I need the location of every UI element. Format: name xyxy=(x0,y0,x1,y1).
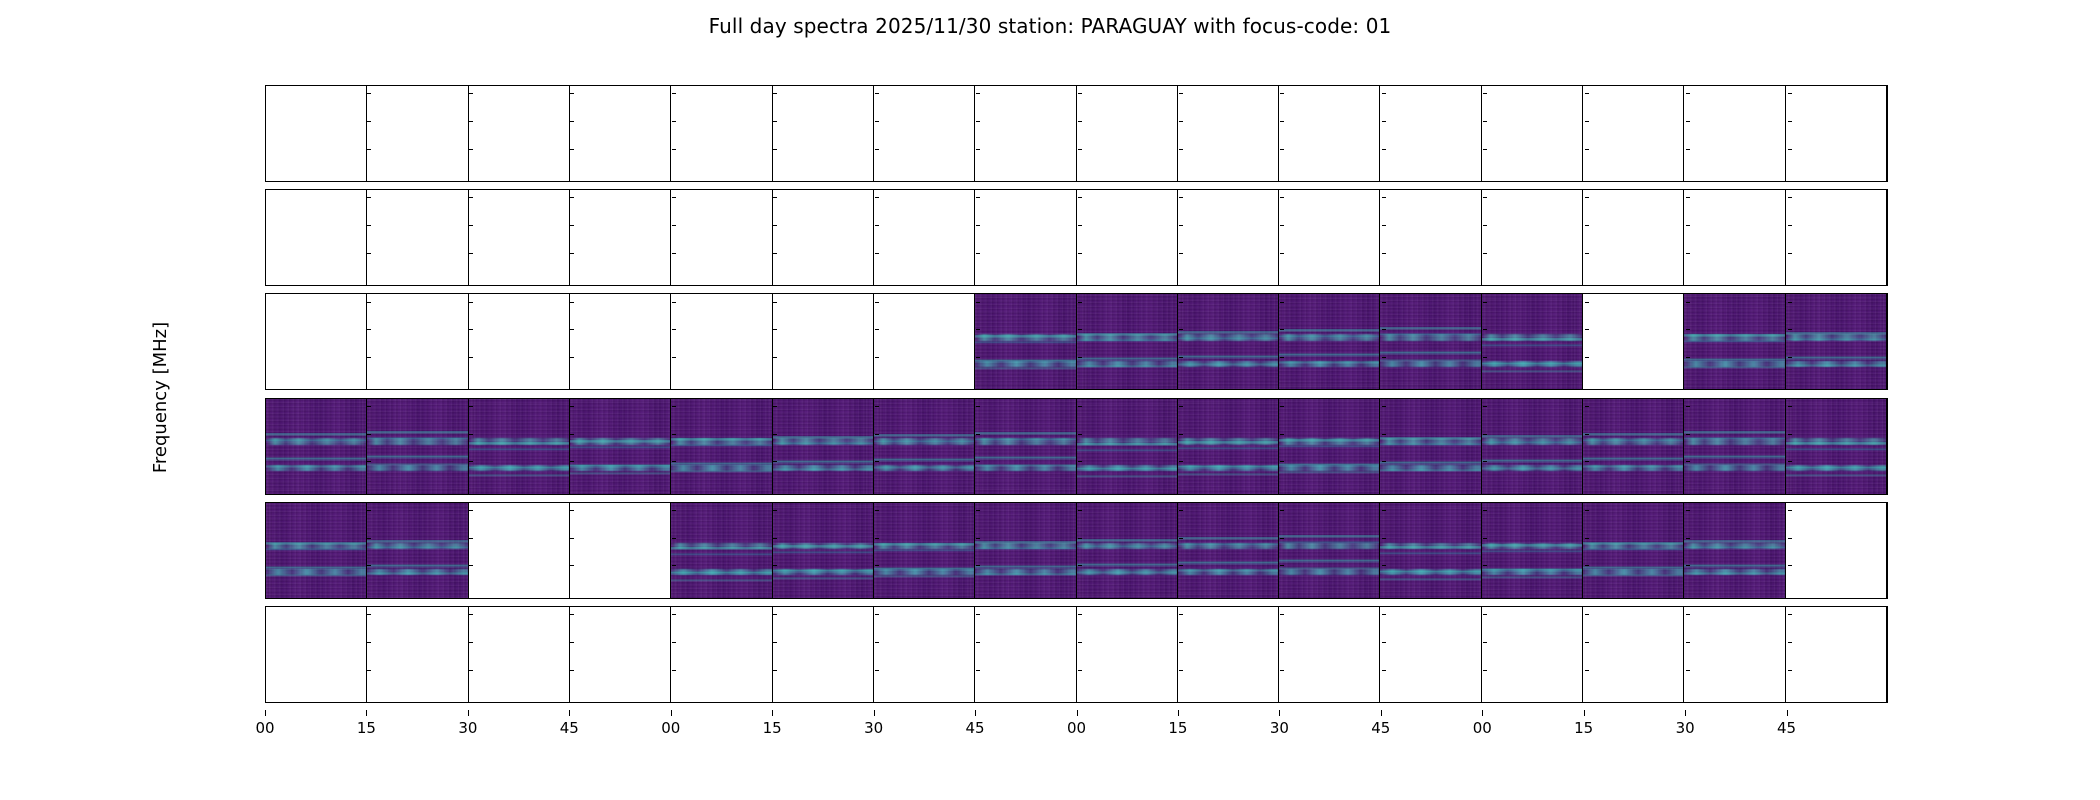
y-tick-stub xyxy=(1280,406,1284,407)
y-tick-stub xyxy=(570,642,574,643)
spectrogram-cell-empty xyxy=(874,294,975,389)
y-tick-stub xyxy=(1483,461,1487,462)
spectrogram-cell-empty xyxy=(266,190,367,285)
y-tick-stub xyxy=(570,253,574,254)
spectrogram-cell-empty xyxy=(1583,294,1684,389)
y-tick-stub xyxy=(570,197,574,198)
spectrogram-cell-empty xyxy=(469,294,570,389)
spectrogram-cell xyxy=(1482,503,1583,598)
x-tick-mark xyxy=(1584,710,1585,716)
y-tick-stub xyxy=(1078,538,1082,539)
y-tick-stub xyxy=(1382,434,1386,435)
y-tick-stub xyxy=(773,406,777,407)
y-tick-stub xyxy=(1382,329,1386,330)
y-tick-stub xyxy=(1483,565,1487,566)
y-tick-stub xyxy=(1179,302,1183,303)
y-tick-stub xyxy=(570,670,574,671)
x-tick-label: 15 xyxy=(1574,719,1593,737)
y-tick-stub xyxy=(1280,461,1284,462)
y-tick-stub xyxy=(367,670,371,671)
x-tick-mark xyxy=(468,710,469,716)
y-tick-mark xyxy=(265,197,266,198)
y-tick-stub xyxy=(1179,614,1183,615)
y-tick-stub xyxy=(1686,670,1690,671)
y-tick-stub xyxy=(1483,510,1487,511)
spectrogram-cell xyxy=(367,399,468,494)
y-tick-stub xyxy=(570,565,574,566)
x-tick-mark xyxy=(1685,710,1686,716)
y-tick-stub xyxy=(672,642,676,643)
y-tick-stub xyxy=(367,225,371,226)
x-tick-mark xyxy=(1381,710,1382,716)
spectrogram-cell-empty xyxy=(1684,86,1785,181)
y-tick-stub xyxy=(875,93,879,94)
y-tick-stub xyxy=(1686,565,1690,566)
y-tick-stub xyxy=(875,357,879,358)
y-tick-stub xyxy=(672,538,676,539)
y-tick-stub xyxy=(1078,642,1082,643)
y-tick-stub xyxy=(367,406,371,407)
y-tick-mark xyxy=(265,253,266,254)
y-tick-stub xyxy=(570,302,574,303)
y-tick-stub xyxy=(773,434,777,435)
y-tick-stub xyxy=(1382,614,1386,615)
y-tick-mark xyxy=(265,565,266,566)
y-tick-stub xyxy=(875,197,879,198)
y-tick-mark xyxy=(265,642,266,643)
spectrogram-cell xyxy=(1380,503,1481,598)
y-tick-stub xyxy=(1280,197,1284,198)
y-tick-stub xyxy=(1078,121,1082,122)
x-tick-label: 15 xyxy=(763,719,782,737)
y-tick-stub xyxy=(1078,461,1082,462)
spectrogram-cell-empty xyxy=(570,607,671,702)
spectrogram-row-12-15ut: 75050025012-15UT xyxy=(265,398,1888,495)
y-tick-stub xyxy=(367,461,371,462)
spectrogram-grid: 75050025000-03UT75050025004-07UT75050025… xyxy=(265,85,1888,710)
spectrogram-row-08-11ut: 75050025008-11UT xyxy=(265,293,1888,390)
y-tick-stub xyxy=(367,149,371,150)
y-tick-stub xyxy=(469,329,473,330)
y-tick-stub xyxy=(1280,93,1284,94)
y-tick-stub xyxy=(773,329,777,330)
y-tick-stub xyxy=(1585,538,1589,539)
spectrogram-cell-empty xyxy=(874,190,975,285)
spectrogram-cell-empty xyxy=(1482,86,1583,181)
y-tick-stub xyxy=(1078,253,1082,254)
y-tick-stub xyxy=(1483,93,1487,94)
y-tick-stub xyxy=(367,302,371,303)
x-tick-mark xyxy=(1077,710,1078,716)
spectrogram-cell xyxy=(1482,399,1583,494)
y-tick-mark xyxy=(265,225,266,226)
y-tick-stub xyxy=(1788,565,1792,566)
x-tick-label: 30 xyxy=(1676,719,1695,737)
y-tick-stub xyxy=(773,642,777,643)
y-tick-stub xyxy=(469,302,473,303)
y-tick-stub xyxy=(1788,121,1792,122)
y-tick-stub xyxy=(773,93,777,94)
y-tick-stub xyxy=(1179,329,1183,330)
y-tick-stub xyxy=(1483,670,1487,671)
x-tick-label: 00 xyxy=(661,719,680,737)
x-tick-label: 30 xyxy=(458,719,477,737)
y-tick-stub xyxy=(570,357,574,358)
y-tick-stub xyxy=(1078,510,1082,511)
x-tick-mark xyxy=(1482,710,1483,716)
y-tick-stub xyxy=(672,406,676,407)
y-tick-mark xyxy=(265,461,266,462)
y-tick-stub xyxy=(1280,538,1284,539)
y-tick-stub xyxy=(1280,434,1284,435)
y-tick-stub xyxy=(570,406,574,407)
y-tick-mark xyxy=(265,406,266,407)
y-tick-stub xyxy=(1179,434,1183,435)
spectrogram-cell xyxy=(1684,294,1785,389)
y-tick-stub xyxy=(570,510,574,511)
y-tick-stub xyxy=(976,434,980,435)
y-tick-stub xyxy=(367,434,371,435)
spectrogram-cell xyxy=(1178,399,1279,494)
y-tick-stub xyxy=(570,149,574,150)
spectrogram-cell xyxy=(773,503,874,598)
y-tick-stub xyxy=(570,225,574,226)
y-tick-stub xyxy=(1483,197,1487,198)
spectrogram-cell xyxy=(874,503,975,598)
y-tick-stub xyxy=(1179,670,1183,671)
y-tick-stub xyxy=(1788,510,1792,511)
spectrogram-cell-empty xyxy=(1178,607,1279,702)
spectrogram-cell xyxy=(1380,399,1481,494)
y-tick-stub xyxy=(367,565,371,566)
spectrogram-cell-empty xyxy=(1380,190,1481,285)
y-tick-stub xyxy=(875,642,879,643)
spectrogram-cell-empty xyxy=(1583,190,1684,285)
y-tick-stub xyxy=(773,510,777,511)
x-tick-mark xyxy=(569,710,570,716)
y-tick-stub xyxy=(1179,538,1183,539)
y-tick-stub xyxy=(1078,329,1082,330)
x-tick-mark xyxy=(772,710,773,716)
y-tick-stub xyxy=(367,329,371,330)
y-tick-stub xyxy=(1280,510,1284,511)
spectrogram-cell-empty xyxy=(1077,86,1178,181)
y-tick-mark xyxy=(265,149,266,150)
x-tick-label: 45 xyxy=(1371,719,1390,737)
y-tick-stub xyxy=(672,225,676,226)
y-tick-stub xyxy=(1686,538,1690,539)
y-tick-stub xyxy=(1382,121,1386,122)
y-tick-stub xyxy=(1788,434,1792,435)
y-tick-mark xyxy=(265,93,266,94)
spectrogram-cell-empty xyxy=(773,607,874,702)
y-tick-stub xyxy=(1483,225,1487,226)
spectrogram-cell-empty xyxy=(1786,190,1887,285)
y-tick-stub xyxy=(1078,670,1082,671)
spectrogram-cell-empty xyxy=(367,190,468,285)
y-tick-stub xyxy=(1585,121,1589,122)
spectrogram-cell-empty xyxy=(1279,190,1380,285)
y-tick-mark xyxy=(265,614,266,615)
y-tick-stub xyxy=(469,614,473,615)
x-tick-label: 00 xyxy=(1473,719,1492,737)
x-tick-mark xyxy=(1178,710,1179,716)
y-tick-stub xyxy=(1788,642,1792,643)
y-tick-stub xyxy=(367,642,371,643)
y-tick-stub xyxy=(1788,329,1792,330)
y-tick-stub xyxy=(672,329,676,330)
y-tick-stub xyxy=(773,565,777,566)
y-tick-stub xyxy=(1686,302,1690,303)
y-tick-stub xyxy=(1686,614,1690,615)
y-tick-stub xyxy=(976,121,980,122)
y-tick-stub xyxy=(875,670,879,671)
y-tick-stub xyxy=(1078,434,1082,435)
y-tick-stub xyxy=(469,197,473,198)
y-tick-stub xyxy=(1585,329,1589,330)
y-tick-stub xyxy=(1788,614,1792,615)
y-tick-stub xyxy=(875,434,879,435)
y-tick-stub xyxy=(367,538,371,539)
y-tick-stub xyxy=(1483,121,1487,122)
spectrogram-cell-empty xyxy=(773,190,874,285)
y-tick-stub xyxy=(1483,253,1487,254)
y-tick-stub xyxy=(672,565,676,566)
spectrogram-cell-empty xyxy=(1583,86,1684,181)
spectrogram-cell xyxy=(1583,503,1684,598)
y-tick-stub xyxy=(1382,461,1386,462)
y-tick-stub xyxy=(672,434,676,435)
y-tick-stub xyxy=(1280,302,1284,303)
y-tick-stub xyxy=(875,121,879,122)
spectrogram-cell-empty xyxy=(975,607,1076,702)
y-tick-stub xyxy=(976,93,980,94)
spectrogram-cell-empty xyxy=(1786,503,1887,598)
y-tick-stub xyxy=(875,329,879,330)
y-tick-stub xyxy=(1585,565,1589,566)
spectrogram-cell xyxy=(975,503,1076,598)
y-tick-stub xyxy=(1382,149,1386,150)
spectrogram-cell-empty xyxy=(266,294,367,389)
y-tick-stub xyxy=(875,614,879,615)
y-tick-stub xyxy=(1788,670,1792,671)
y-tick-stub xyxy=(1686,121,1690,122)
y-tick-stub xyxy=(1483,357,1487,358)
y-tick-stub xyxy=(875,461,879,462)
spectrogram-cell xyxy=(1178,503,1279,598)
spectrogram-cell xyxy=(1279,503,1380,598)
y-tick-stub xyxy=(367,357,371,358)
y-tick-stub xyxy=(1179,121,1183,122)
y-tick-stub xyxy=(469,225,473,226)
y-tick-stub xyxy=(1483,614,1487,615)
y-tick-stub xyxy=(1788,149,1792,150)
x-tick-label: 45 xyxy=(560,719,579,737)
spectrogram-cell xyxy=(773,399,874,494)
x-tick-mark xyxy=(975,710,976,716)
y-tick-stub xyxy=(1686,149,1690,150)
y-tick-stub xyxy=(1686,253,1690,254)
y-tick-stub xyxy=(875,406,879,407)
spectrogram-cell xyxy=(975,399,1076,494)
y-tick-stub xyxy=(570,93,574,94)
y-tick-stub xyxy=(976,461,980,462)
x-tick-label: 00 xyxy=(255,719,274,737)
y-tick-stub xyxy=(367,197,371,198)
y-tick-stub xyxy=(469,406,473,407)
page-title: Full day spectra 2025/11/30 station: PAR… xyxy=(0,14,2100,38)
y-tick-stub xyxy=(469,357,473,358)
y-tick-stub xyxy=(469,93,473,94)
y-tick-stub xyxy=(1179,149,1183,150)
x-axis: 00153045001530450015304500153045 xyxy=(265,710,1888,750)
y-tick-stub xyxy=(1280,225,1284,226)
spectrogram-row-04-07ut: 75050025004-07UT xyxy=(265,189,1888,286)
y-tick-stub xyxy=(1585,253,1589,254)
spectrogram-cell xyxy=(1380,294,1481,389)
y-tick-stub xyxy=(1788,406,1792,407)
y-tick-stub xyxy=(976,538,980,539)
y-tick-stub xyxy=(367,614,371,615)
y-tick-stub xyxy=(1280,253,1284,254)
y-tick-stub xyxy=(875,538,879,539)
y-tick-stub xyxy=(773,670,777,671)
y-tick-mark xyxy=(265,121,266,122)
y-tick-stub xyxy=(570,434,574,435)
y-tick-stub xyxy=(1280,670,1284,671)
y-tick-stub xyxy=(672,253,676,254)
y-tick-stub xyxy=(1585,357,1589,358)
y-tick-stub xyxy=(1585,614,1589,615)
y-tick-stub xyxy=(773,121,777,122)
y-tick-stub xyxy=(1280,642,1284,643)
y-tick-stub xyxy=(1788,357,1792,358)
spectrogram-cell-empty xyxy=(469,503,570,598)
y-tick-stub xyxy=(1179,565,1183,566)
y-tick-stub xyxy=(1686,461,1690,462)
spectrogram-cell xyxy=(874,399,975,494)
y-tick-stub xyxy=(1585,642,1589,643)
y-tick-stub xyxy=(1483,302,1487,303)
y-tick-stub xyxy=(469,642,473,643)
y-tick-stub xyxy=(672,510,676,511)
spectrogram-cell-empty xyxy=(367,294,468,389)
spectrogram-cell xyxy=(1786,399,1887,494)
spectrogram-cell-empty xyxy=(975,190,1076,285)
spectrogram-cell xyxy=(1077,294,1178,389)
spectrogram-cell-empty xyxy=(570,86,671,181)
y-tick-stub xyxy=(773,197,777,198)
y-tick-stub xyxy=(1686,357,1690,358)
spectrogram-cell-empty xyxy=(1380,86,1481,181)
x-tick-label: 00 xyxy=(1067,719,1086,737)
x-tick-label: 45 xyxy=(1777,719,1796,737)
y-tick-stub xyxy=(976,510,980,511)
y-tick-stub xyxy=(1382,302,1386,303)
y-tick-stub xyxy=(1788,197,1792,198)
y-tick-stub xyxy=(469,510,473,511)
y-tick-stub xyxy=(1382,253,1386,254)
spectrogram-cell xyxy=(1178,294,1279,389)
spectrogram-cell-empty xyxy=(1178,190,1279,285)
y-tick-stub xyxy=(1280,329,1284,330)
x-tick-mark xyxy=(1279,710,1280,716)
y-tick-stub xyxy=(976,565,980,566)
y-tick-stub xyxy=(1483,149,1487,150)
y-tick-stub xyxy=(1686,406,1690,407)
y-tick-stub xyxy=(1483,642,1487,643)
spectrogram-cell-empty xyxy=(469,190,570,285)
y-tick-stub xyxy=(1179,510,1183,511)
spectrogram-cell-empty xyxy=(874,86,975,181)
y-tick-stub xyxy=(1280,149,1284,150)
y-tick-stub xyxy=(1078,565,1082,566)
spectrogram-cell xyxy=(1077,399,1178,494)
x-tick-label: 30 xyxy=(1270,719,1289,737)
y-tick-stub xyxy=(1382,357,1386,358)
y-tick-stub xyxy=(875,510,879,511)
y-tick-stub xyxy=(469,149,473,150)
spectrogram-cell xyxy=(1279,294,1380,389)
x-tick-mark xyxy=(671,710,672,716)
x-tick-mark xyxy=(366,710,367,716)
x-tick-mark xyxy=(874,710,875,716)
y-tick-stub xyxy=(1585,197,1589,198)
y-tick-mark xyxy=(265,510,266,511)
spectrogram-cell-empty xyxy=(469,607,570,702)
y-tick-stub xyxy=(672,670,676,671)
y-tick-stub xyxy=(367,510,371,511)
x-tick-label: 30 xyxy=(864,719,883,737)
y-tick-stub xyxy=(1686,510,1690,511)
y-tick-stub xyxy=(672,93,676,94)
y-tick-stub xyxy=(1686,197,1690,198)
y-tick-stub xyxy=(469,253,473,254)
y-tick-stub xyxy=(1280,357,1284,358)
y-tick-stub xyxy=(773,461,777,462)
y-tick-stub xyxy=(976,357,980,358)
y-tick-stub xyxy=(1585,149,1589,150)
y-tick-stub xyxy=(976,253,980,254)
y-tick-stub xyxy=(469,670,473,671)
y-tick-stub xyxy=(1788,302,1792,303)
y-tick-stub xyxy=(875,253,879,254)
spectrogram-cell-empty xyxy=(773,294,874,389)
y-axis-title: Frequency [MHz] xyxy=(150,85,180,710)
spectrogram-cell-empty xyxy=(1178,86,1279,181)
spectrogram-cell-empty xyxy=(1583,607,1684,702)
spectrogram-cell-empty xyxy=(1279,607,1380,702)
y-tick-stub xyxy=(1788,538,1792,539)
y-tick-stub xyxy=(976,642,980,643)
y-tick-stub xyxy=(367,121,371,122)
y-tick-stub xyxy=(1078,149,1082,150)
spectrogram-cell xyxy=(1684,503,1785,598)
y-tick-stub xyxy=(570,461,574,462)
spectrogram-cell xyxy=(671,399,772,494)
y-tick-stub xyxy=(976,197,980,198)
y-tick-mark xyxy=(265,329,266,330)
y-tick-stub xyxy=(1686,329,1690,330)
y-tick-stub xyxy=(1382,538,1386,539)
y-tick-stub xyxy=(1078,225,1082,226)
spectrogram-cell xyxy=(1684,399,1785,494)
y-tick-stub xyxy=(1179,197,1183,198)
y-tick-stub xyxy=(367,253,371,254)
y-tick-stub xyxy=(1078,93,1082,94)
y-tick-stub xyxy=(1483,434,1487,435)
spectrogram-cell-empty xyxy=(266,86,367,181)
